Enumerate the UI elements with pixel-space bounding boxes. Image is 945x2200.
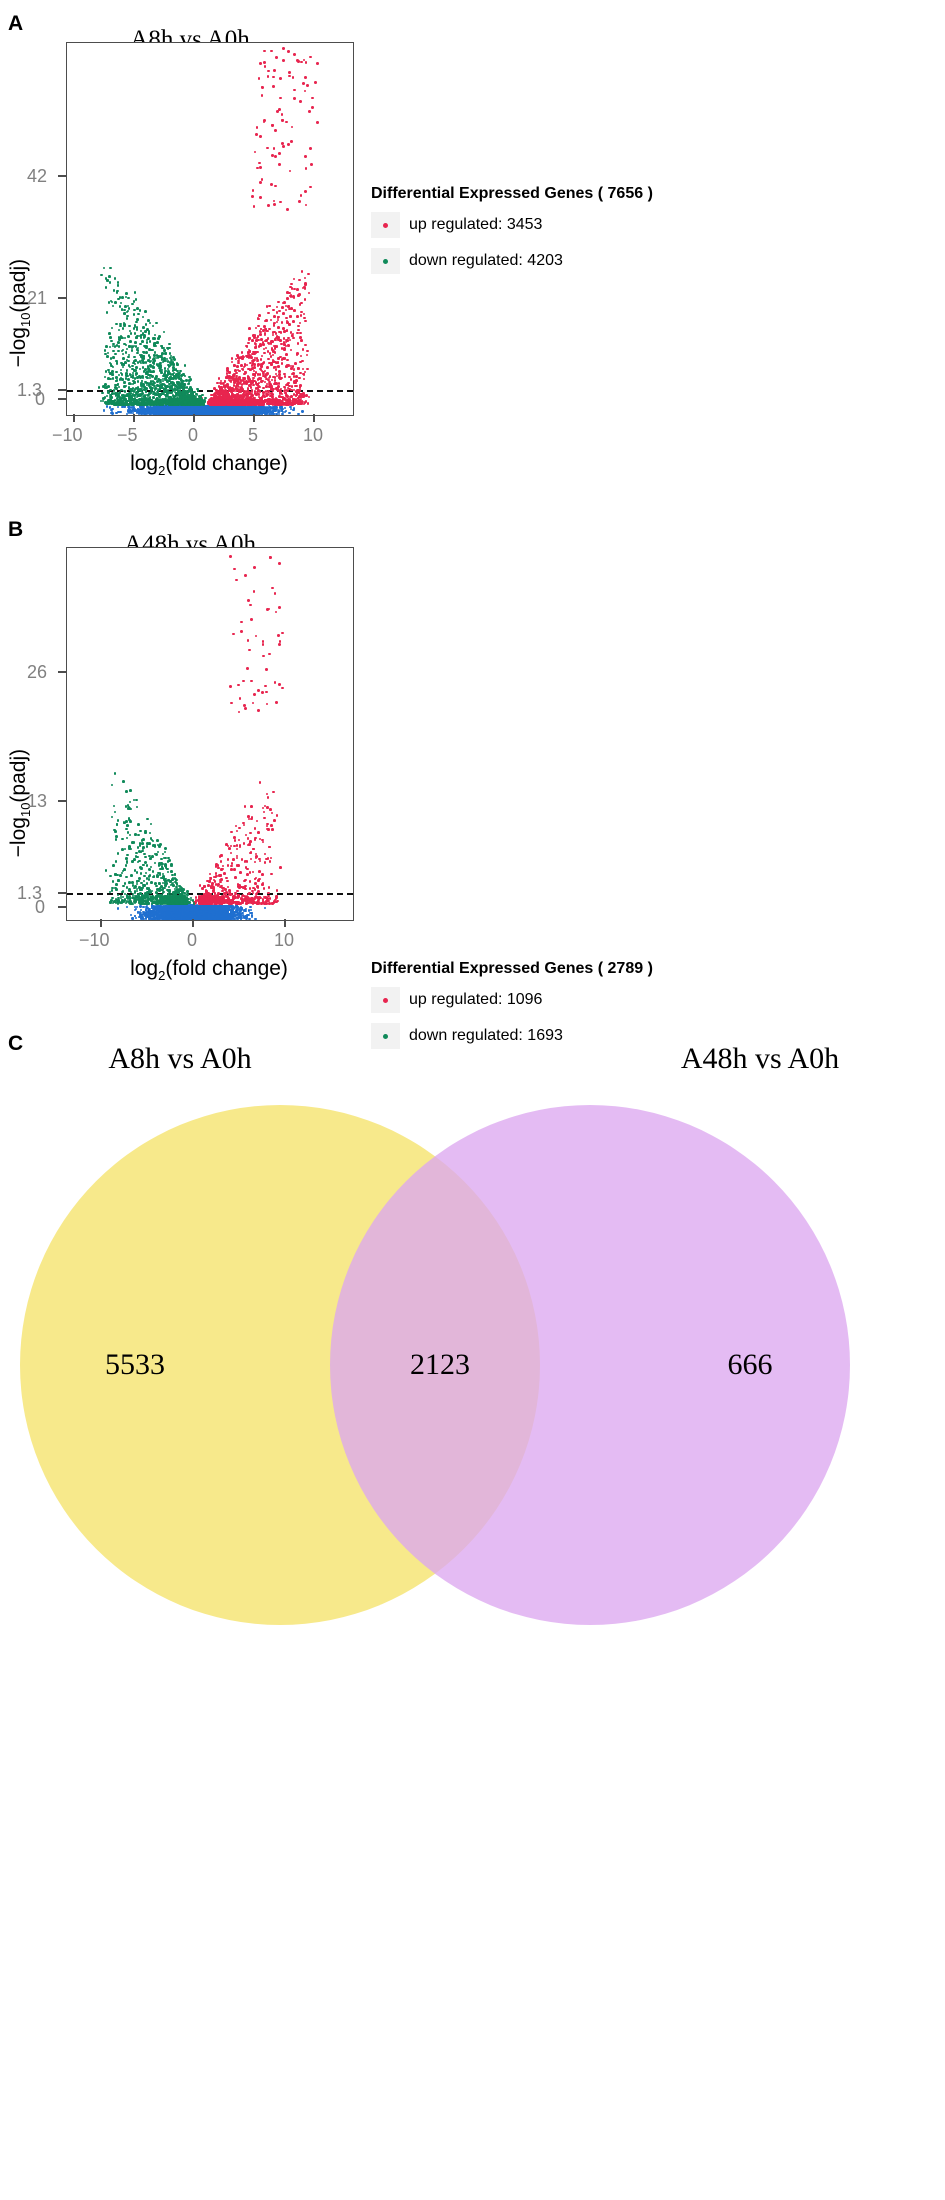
data-point (264, 407, 266, 409)
data-point (278, 413, 280, 415)
data-point (284, 407, 286, 409)
data-point (145, 409, 147, 411)
y-tickmark-a-3 (58, 398, 66, 400)
y-tick-label-a-3: 0 (35, 389, 45, 410)
y-tickmark-a-1 (58, 297, 66, 299)
data-point (106, 405, 108, 407)
data-point (127, 410, 129, 412)
data-point (269, 406, 271, 408)
data-point (297, 413, 299, 415)
data-point (115, 412, 117, 414)
data-point (281, 413, 283, 415)
data-point (285, 410, 287, 412)
data-point (126, 413, 128, 415)
data-point (117, 406, 119, 408)
plot-area-a (66, 42, 354, 416)
y-axis-label-a-prefix: −log (7, 327, 30, 367)
y-axis-label-a-sub: 10 (18, 313, 33, 327)
y-tick-label-a-1: 21 (27, 288, 47, 309)
y-tickmark-a-2 (58, 389, 66, 391)
y-axis-label-a: −log10(padj) (7, 238, 33, 388)
data-point (301, 410, 303, 412)
y-tick-label-a-0: 42 (27, 166, 47, 187)
data-point (145, 413, 147, 415)
data-point (288, 412, 290, 414)
data-point (272, 411, 274, 413)
y-tickmark-a-0 (58, 175, 66, 177)
data-point (111, 412, 113, 414)
data-point (293, 407, 295, 409)
data-point (130, 406, 132, 408)
